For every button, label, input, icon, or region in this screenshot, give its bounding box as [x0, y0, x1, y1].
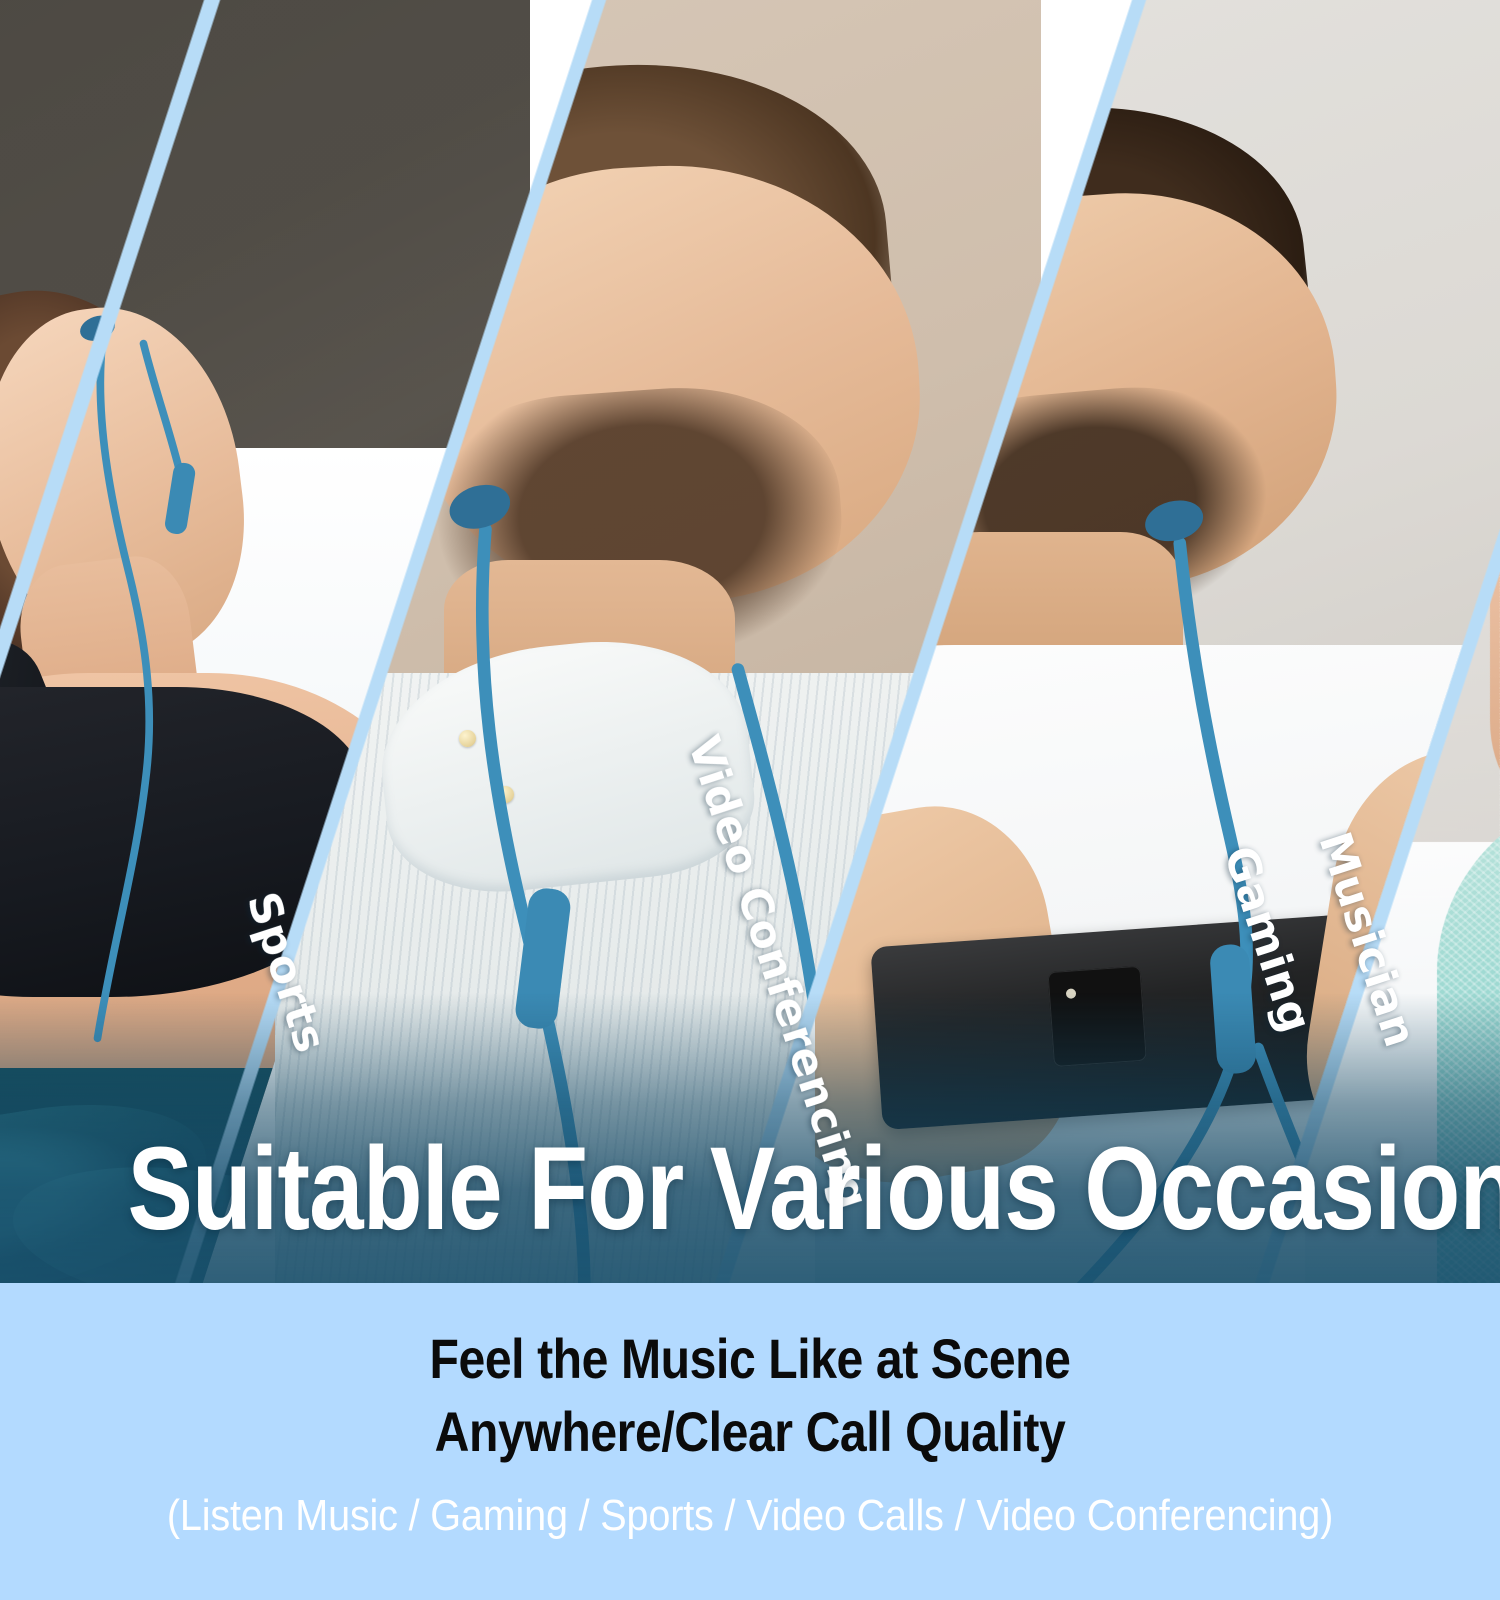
hair [0, 264, 240, 744]
promo-banner: Sports Video Conferencing Gaming Musicia… [0, 0, 1500, 1600]
use-case-list: (Listen Music / Gaming / Sports / Video … [75, 1491, 1425, 1541]
tagline-block: Feel the Music Like at Scene Anywhere/Cl… [105, 1323, 1395, 1469]
tagline-panel: Feel the Music Like at Scene Anywhere/Cl… [0, 1283, 1500, 1600]
beard [419, 377, 851, 687]
bra-strap [0, 619, 72, 811]
shirt-button [459, 730, 476, 747]
occasion-photo-strip: Sports Video Conferencing Gaming Musicia… [0, 0, 1500, 1283]
hair-ponytail [0, 336, 82, 771]
face [0, 293, 261, 674]
shirt-button [497, 786, 514, 803]
neck [13, 551, 209, 796]
tagline-line-1: Feel the Music Like at Scene [105, 1323, 1395, 1396]
page-title: Suitable For Various Occasions [128, 1130, 1373, 1248]
shirt-button [528, 899, 545, 916]
tagline-line-2: Anywhere/Clear Call Quality [105, 1396, 1395, 1469]
